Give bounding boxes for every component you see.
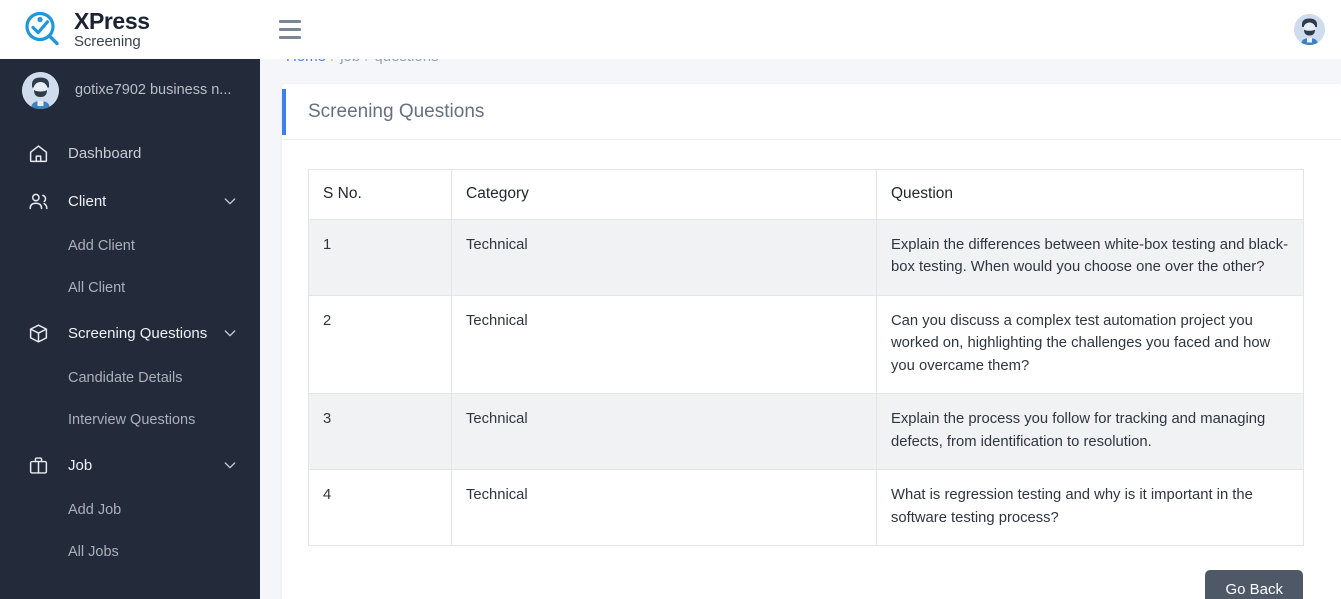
box-icon [26,321,50,345]
sidebar-item-client[interactable]: Client [0,177,260,225]
brand-logo[interactable]: XPress Screening [0,0,260,59]
sidebar-item-add-client[interactable]: Add Client [0,225,260,267]
briefcase-icon [26,453,50,477]
sidebar-item-label: All Client [68,280,125,296]
sidebar-item-add-job[interactable]: Add Job [0,489,260,531]
sidebar-item-label: Dashboard [68,145,141,162]
cell-question: Explain the differences between white-bo… [877,220,1304,296]
sidebar-item-label: Add Job [68,502,121,518]
sidebar-item-label: All Jobs [68,544,119,560]
breadcrumb-separator: / [365,59,369,65]
sidebar-item-label: Add Client [68,238,135,254]
table-row: 1 Technical Explain the differences betw… [309,220,1304,296]
card-header: Screening Questions [282,84,1341,140]
column-header-category: Category [452,170,877,220]
breadcrumb-level2[interactable]: job [340,59,360,65]
column-header-sno: S No. [309,170,452,220]
sidebar-item-screening-questions[interactable]: Screening Questions [0,309,260,357]
user-avatar-icon [22,72,59,109]
screening-questions-card: Screening Questions S No. Category Quest… [282,84,1341,599]
card-footer: Go Back [282,546,1341,599]
cell-category: Technical [452,470,877,546]
cell-sno: 3 [309,394,452,470]
sidebar-item-dashboard[interactable]: Dashboard [0,129,260,177]
hamburger-bar [279,36,301,39]
cell-category: Technical [452,295,877,393]
brand-title: XPress [74,10,150,33]
question-text: What is regression testing and why is it… [891,484,1289,529]
breadcrumb-home-link[interactable]: Home [286,59,326,65]
sidebar-item-label: Client [68,193,106,210]
table-row: 3 Technical Explain the process you foll… [309,394,1304,470]
users-icon [26,189,50,213]
table-body: 1 Technical Explain the differences betw… [309,220,1304,546]
sidebar-item-label: Candidate Details [68,370,182,386]
table-header-row: S No. Category Question [309,170,1304,220]
hamburger-menu-icon[interactable] [279,20,305,39]
cell-question: Can you discuss a complex test automatio… [877,295,1304,393]
sidebar-profile[interactable]: gotixe7902 business n... [0,59,260,121]
chevron-down-icon[interactable] [222,193,238,209]
cell-question: Explain the process you follow for track… [877,394,1304,470]
sidebar-body: gotixe7902 business n... Dashboard [0,59,260,599]
cell-sno: 4 [309,470,452,546]
hamburger-bar [279,28,301,31]
brand-subtitle: Screening [74,34,150,49]
sidebar-item-candidate-details[interactable]: Candidate Details [0,357,260,399]
app-root: XPress Screening gotixe7902 business n.. [0,0,1341,599]
column-header-question: Question [877,170,1304,220]
hamburger-bar [279,20,301,23]
sidebar-item-label: Job [68,457,92,474]
cell-question: What is regression testing and why is it… [877,470,1304,546]
main-content: Home/job/questions Screening Questions S… [260,59,1341,599]
table-row: 2 Technical Can you discuss a complex te… [309,295,1304,393]
table-head: S No. Category Question [309,170,1304,220]
sidebar-item-all-client[interactable]: All Client [0,267,260,309]
sidebar-item-label: Interview Questions [68,412,195,428]
sidebar-item-all-jobs[interactable]: All Jobs [0,531,260,573]
sidebar-item-interview-questions[interactable]: Interview Questions [0,399,260,441]
chevron-down-icon[interactable] [222,325,238,341]
go-back-button[interactable]: Go Back [1205,570,1303,599]
brand-text: XPress Screening [74,10,150,49]
breadcrumb-level3: questions [374,59,438,65]
cell-sno: 1 [309,220,452,296]
table-row: 4 Technical What is regression testing a… [309,470,1304,546]
sidebar-nav: Dashboard Client [0,121,260,573]
questions-table: S No. Category Question 1 Technical Expl… [308,169,1304,546]
sidebar-item-label: Screening Questions [68,325,207,342]
magnifier-check-icon [22,9,64,51]
sidebar: XPress Screening gotixe7902 business n.. [0,0,260,599]
question-text: Explain the differences between white-bo… [891,234,1289,279]
home-icon [26,141,50,165]
cell-category: Technical [452,394,877,470]
breadcrumb-separator: / [331,59,335,65]
topbar [260,0,1341,59]
breadcrumb: Home/job/questions [286,59,439,65]
sidebar-profile-name: gotixe7902 business n... [75,82,231,98]
page-title: Screening Questions [308,101,484,123]
cell-sno: 2 [309,295,452,393]
card-body: S No. Category Question 1 Technical Expl… [282,140,1341,546]
question-text: Can you discuss a complex test automatio… [891,310,1289,377]
sidebar-item-job[interactable]: Job [0,441,260,489]
topbar-user-avatar[interactable] [1294,14,1325,45]
question-text: Explain the process you follow for track… [891,408,1289,453]
chevron-down-icon[interactable] [222,457,238,473]
cell-category: Technical [452,220,877,296]
